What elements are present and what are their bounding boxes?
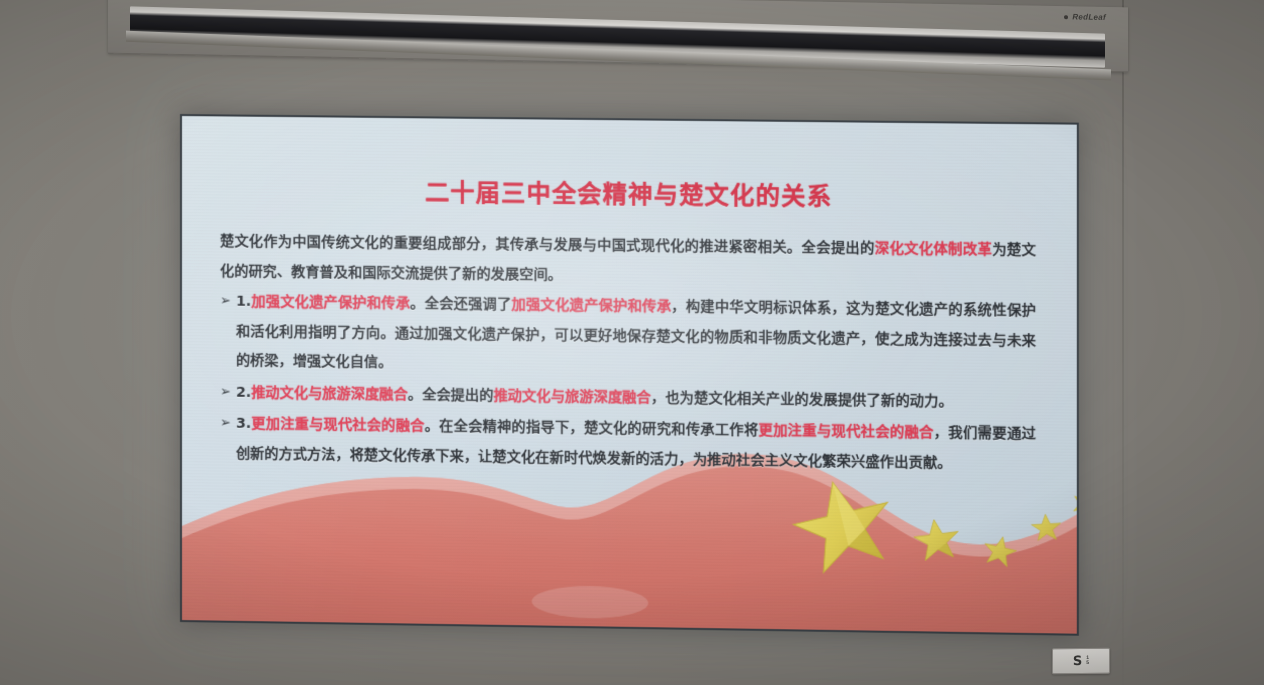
- item-mid-highlight: 推动文化与旅游深度融合: [493, 388, 650, 406]
- intro-paragraph: 楚文化作为中国传统文化的重要组成部分，其传承与发展与中国式现代化的推进紧密相关。…: [214, 227, 1046, 296]
- item-mid-highlight: 加强文化遗产保护和传承: [512, 297, 672, 315]
- list-item: ➢ 1.加强文化遗产保护和传承。全会还强调了加强文化遗产保护和传承，构建中华文明…: [214, 287, 1046, 387]
- slide-surface: 二十届三中全会精神与楚文化的关系 楚文化作为中国传统文化的重要组成部分，其传承与…: [180, 114, 1079, 636]
- item-number: 2.: [236, 384, 251, 400]
- item-seg-a: 。在全会精神的指导下，楚文化的研究和传承工作将: [425, 418, 759, 438]
- projection-screen-housing: RedLeaf: [108, 0, 1128, 72]
- projected-slide: 二十届三中全会精神与楚文化的关系 楚文化作为中国传统文化的重要组成部分，其传承与…: [180, 114, 1079, 636]
- plate-subtext: 1 5: [1086, 656, 1089, 667]
- arrow-bullet-icon: ➢: [220, 410, 231, 437]
- classroom-wall: RedLeaf: [0, 0, 1264, 685]
- intro-seg-1: 楚文化作为中国传统文化的重要组成部分，其传承与发展与中国式现代化的推进紧密相关。…: [220, 233, 875, 256]
- brand-dot-icon: [1064, 15, 1068, 19]
- list-item: ➢ 3.更加注重与现代社会的融合。在全会精神的指导下，楚文化的研究和传承工作将更…: [214, 410, 1046, 481]
- wall-seam: [1122, 0, 1124, 685]
- item-lead-highlight: 加强文化遗产保护和传承: [251, 294, 410, 312]
- arrow-bullet-icon: ➢: [220, 288, 231, 315]
- item-seg-a: 。全会提出的: [408, 387, 494, 404]
- item-lead-highlight: 推动文化与旅游深度融合: [251, 385, 408, 403]
- bullet-text-3: 3.更加注重与现代社会的融合。在全会精神的指导下，楚文化的研究和传承工作将更加注…: [236, 410, 1036, 480]
- item-mid-highlight: 更加注重与现代社会的融合: [759, 423, 934, 441]
- screen-brand-label: RedLeaf: [1064, 12, 1106, 22]
- item-seg-b: ，也为楚文化相关产业的发展提供了新的动力。: [651, 390, 953, 410]
- arrow-bullet-icon: ➢: [220, 378, 231, 405]
- bullet-text-1: 1.加强文化遗产保护和传承。全会还强调了加强文化遗产保护和传承，构建中华文明标识…: [236, 288, 1036, 387]
- item-lead-highlight: 更加注重与现代社会的融合: [251, 416, 424, 434]
- brand-text: RedLeaf: [1072, 12, 1106, 22]
- slide-title: 二十届三中全会精神与楚文化的关系: [214, 170, 1046, 214]
- wall-plate-sticker: S 1 5: [1052, 648, 1110, 675]
- item-seg-a: 。全会还强调了: [410, 296, 511, 313]
- slide-content: 二十届三中全会精神与楚文化的关系 楚文化作为中国传统文化的重要组成部分，其传承与…: [182, 116, 1077, 634]
- item-number: 1.: [236, 294, 251, 310]
- intro-highlight: 深化文化体制改革: [875, 241, 992, 258]
- item-number: 3.: [236, 416, 251, 432]
- plate-sub-2: 5: [1086, 660, 1089, 666]
- plate-glyph: S: [1073, 654, 1082, 667]
